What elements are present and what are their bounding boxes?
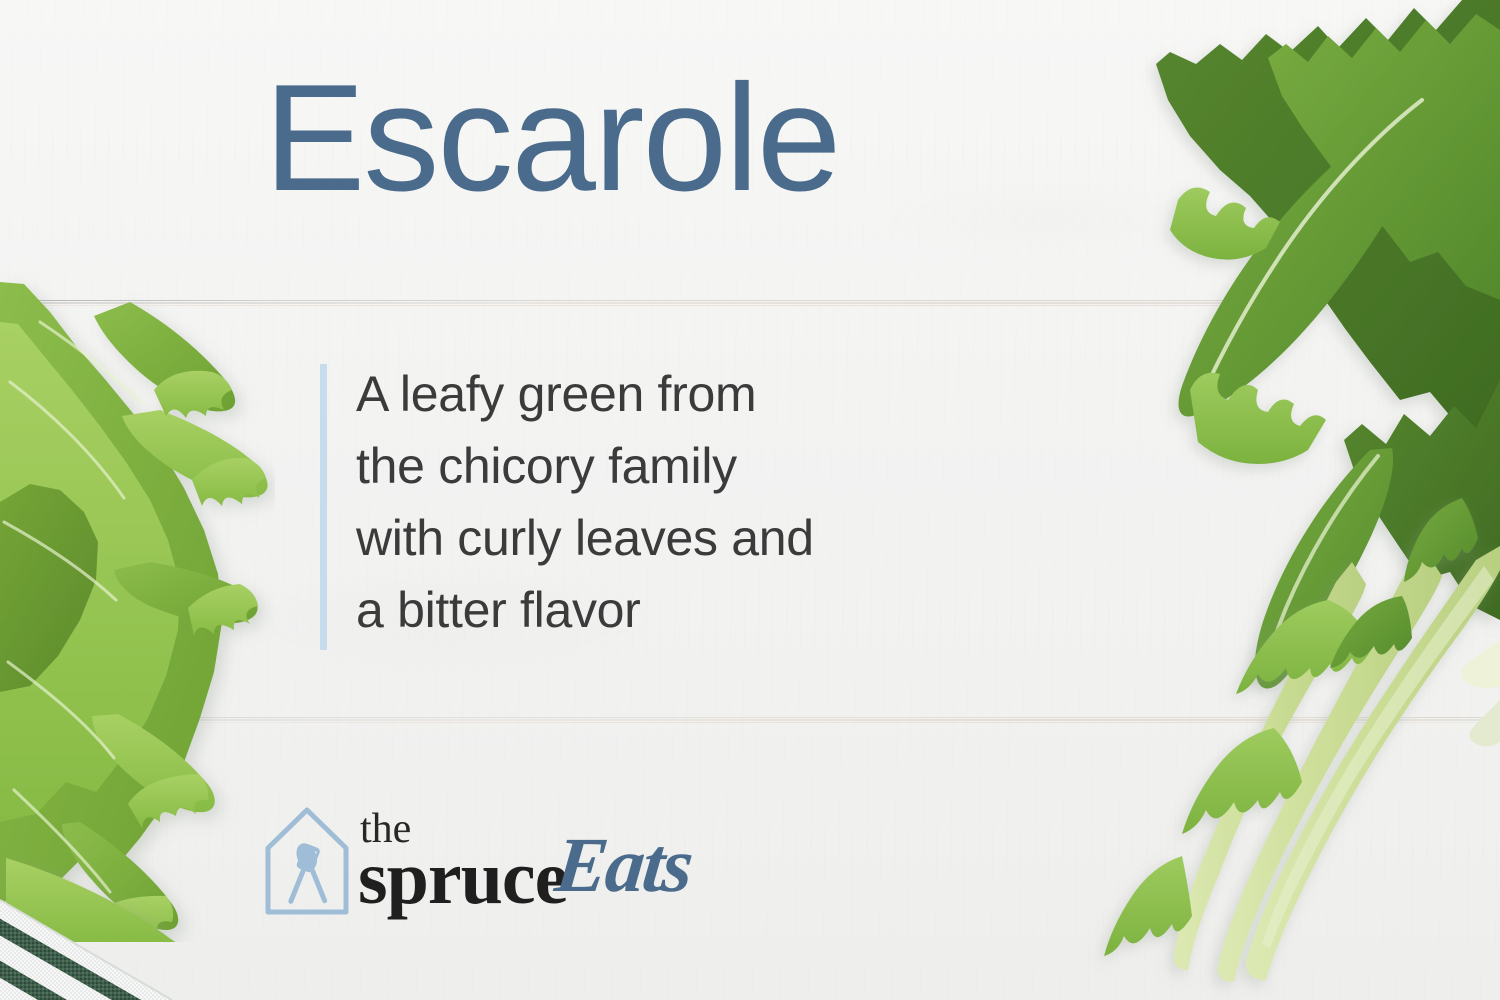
logo-word-spruce: spruce <box>358 840 567 916</box>
logo-word-eats: Eats <box>552 826 695 904</box>
description-line-1: A leafy green from <box>356 358 1036 430</box>
escarole-leaves-right <box>1070 0 1500 1000</box>
accent-bar <box>320 364 327 650</box>
description-line-3: with curly leaves and <box>356 502 1036 574</box>
page-title: Escarole <box>264 62 839 214</box>
kitchen-towel <box>0 870 250 1000</box>
description-line-4: a bitter flavor <box>356 574 1036 646</box>
escarole-leaves-left <box>0 262 275 942</box>
house-with-spatula-and-spoon-icon <box>264 804 350 916</box>
graphic-canvas: Escarole A leafy green from the chicory … <box>0 0 1500 1000</box>
plank-seam-upper <box>0 296 1500 310</box>
description-line-2: the chicory family <box>356 430 1036 502</box>
brand-wordmark: the spruce Eats <box>360 802 690 920</box>
brand-logo[interactable]: the spruce Eats <box>264 802 684 920</box>
description-text: A leafy green from the chicory family wi… <box>356 358 1036 646</box>
plank-seam-lower <box>0 714 1500 728</box>
